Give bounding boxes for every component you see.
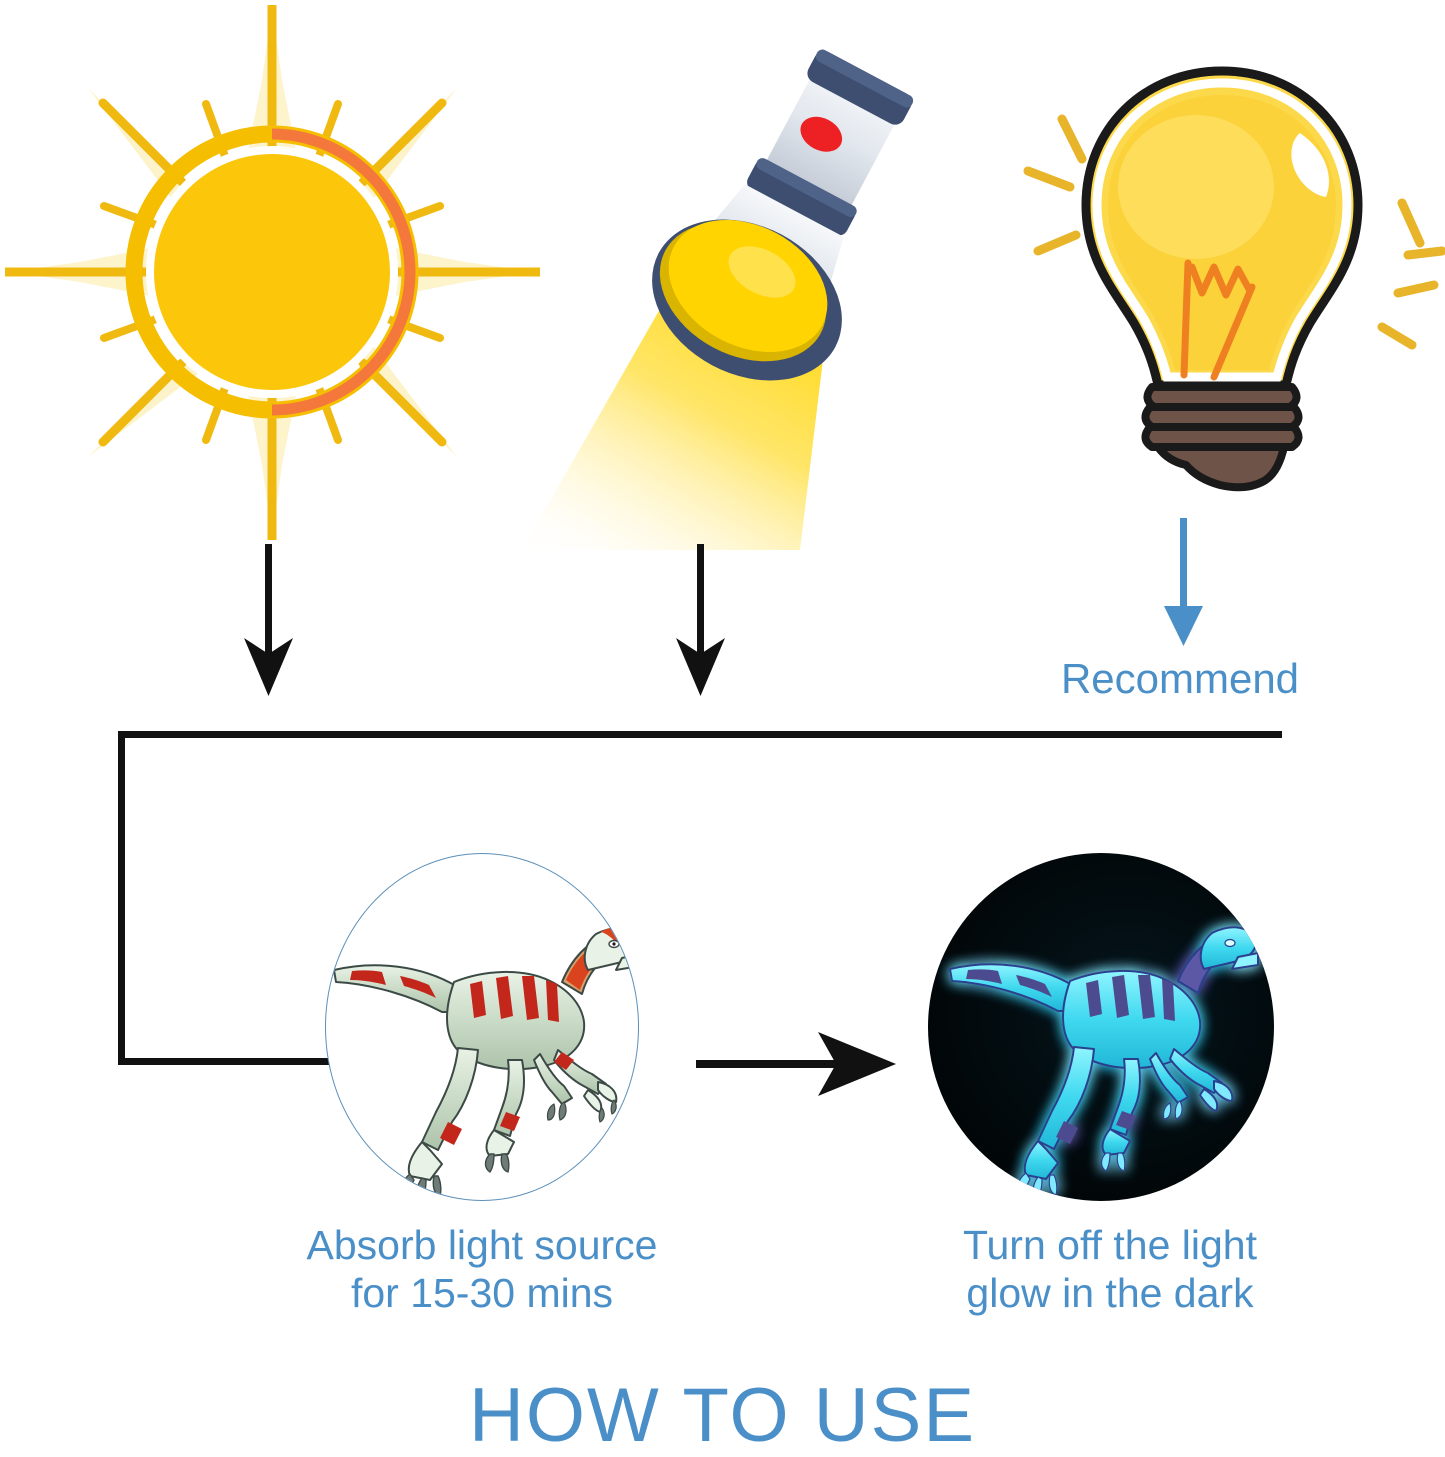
flashlight-icon [500, 0, 980, 550]
page-title: HOW TO USE [0, 1372, 1445, 1457]
down-arrow-sun [236, 540, 304, 700]
caption-absorb: Absorb light source for 15-30 mins [232, 1222, 732, 1318]
recommend-label: Recommend [1020, 655, 1340, 703]
sun-icon [0, 0, 545, 545]
right-arrow-between-steps [690, 1020, 930, 1110]
caption-glow: Turn off the light glow in the dark [860, 1222, 1360, 1318]
dinosaur-glowing-image [928, 853, 1274, 1201]
caption-glow-line1: Turn off the light [860, 1222, 1360, 1270]
caption-glow-line2: glow in the dark [860, 1270, 1360, 1318]
lightbulb-icon [1000, 55, 1445, 535]
caption-absorb-line1: Absorb light source [232, 1222, 732, 1270]
down-arrow-bulb [1148, 518, 1220, 650]
infographic-canvas: Recommend [0, 0, 1445, 1457]
dinosaur-daylight-image [325, 853, 639, 1201]
caption-absorb-line2: for 15-30 mins [232, 1270, 732, 1318]
down-arrow-flashlight [668, 540, 736, 700]
